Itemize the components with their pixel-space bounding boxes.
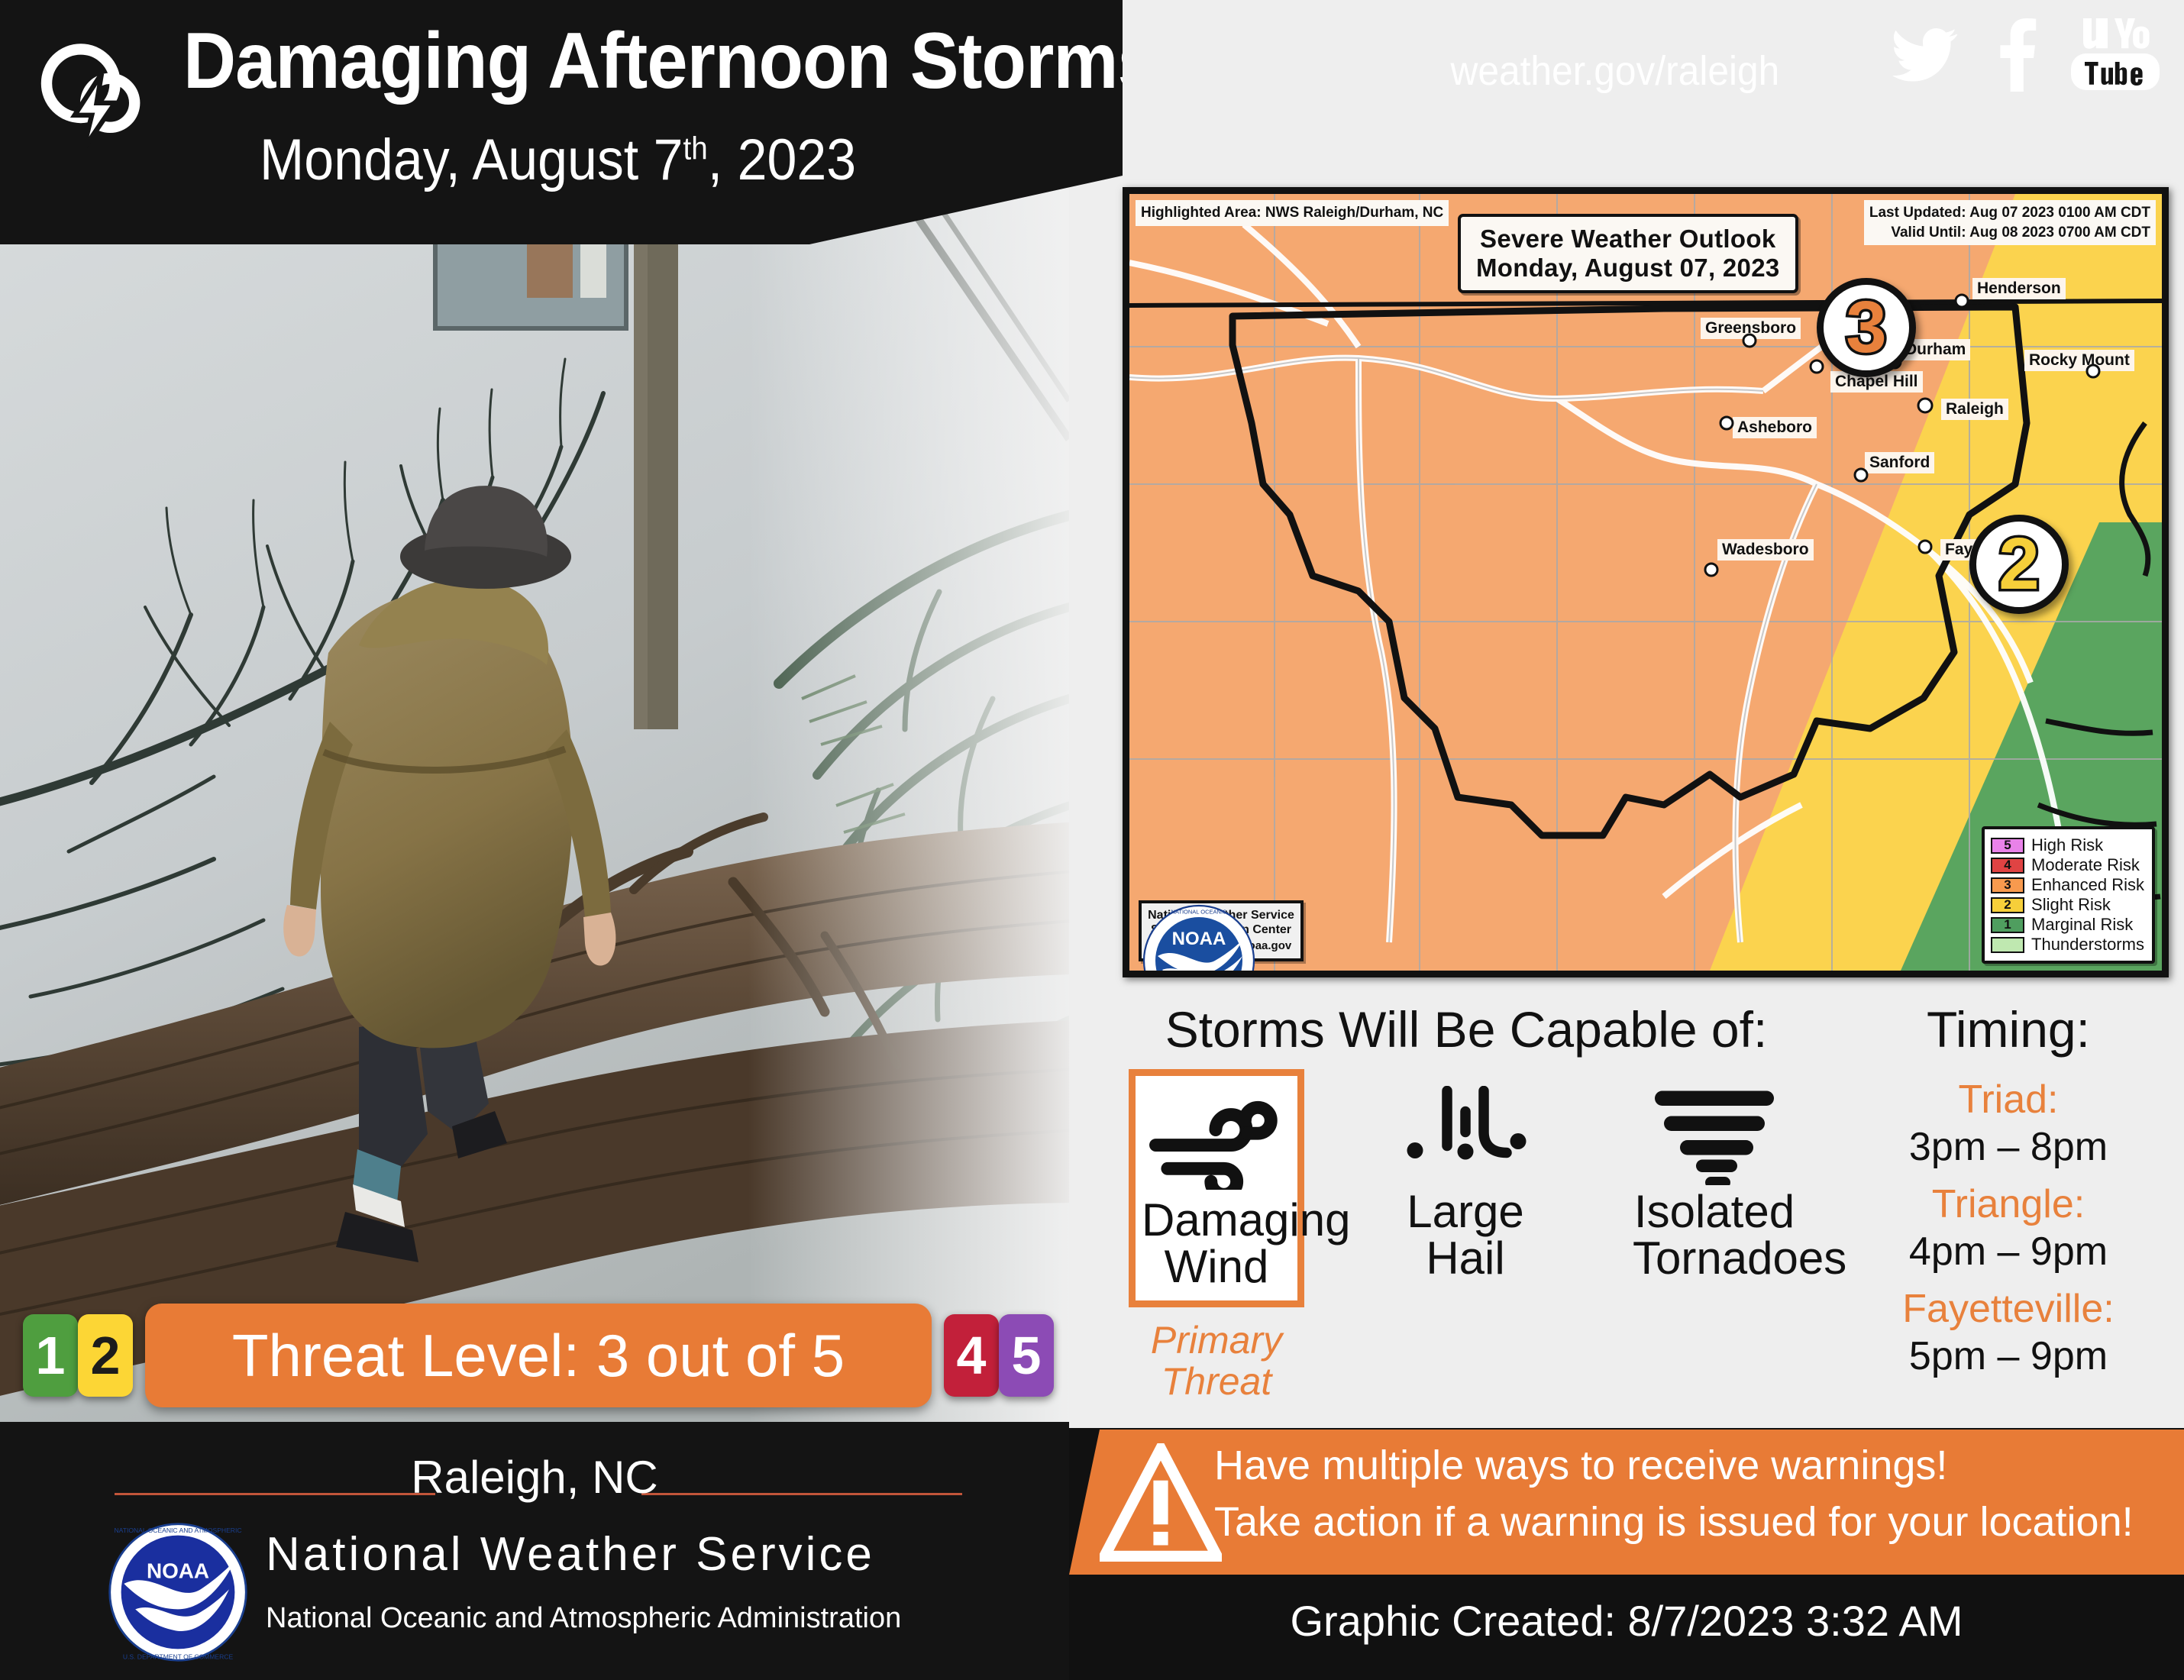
hazard-label-line2: Tornadoes — [1633, 1233, 1846, 1284]
threat-level-1: 1 — [23, 1314, 78, 1397]
footer-office: Raleigh, NC — [0, 1451, 1069, 1504]
map-title-box: Severe Weather Outlook Monday, August 07… — [1458, 214, 1798, 293]
legend-label-5: High Risk — [2031, 835, 2103, 855]
warning-line1: Have multiple ways to receive warnings! — [1214, 1442, 1947, 1489]
svg-text:NATIONAL OCEANIC AND ATMOSPHER: NATIONAL OCEANIC AND ATMOSPHERIC — [114, 1527, 241, 1534]
timing-time-fayetteville: 5pm – 9pm — [1848, 1333, 2169, 1381]
svg-text:U.S. DEPARTMENT OF COMMERCE: U.S. DEPARTMENT OF COMMERCE — [123, 1653, 234, 1660]
legend-row: 2 Slight Risk — [1991, 895, 2144, 915]
hazard-damaging-wind-box: Damaging Wind — [1129, 1069, 1304, 1307]
timing-time-triangle: 4pm – 9pm — [1848, 1228, 2169, 1276]
warning-triangle-icon — [1100, 1443, 1222, 1562]
footer-parent-agency: National Oceanic and Atmospheric Adminis… — [266, 1602, 901, 1635]
header-date-prefix: Monday, August 7 — [260, 128, 683, 192]
legend-label-2: Slight Risk — [2031, 895, 2111, 915]
hazard-label-line1: Damaging — [1142, 1194, 1351, 1245]
social-links — [1883, 18, 2163, 92]
svg-text:NATIONAL OCEANIC: NATIONAL OCEANIC — [1171, 908, 1228, 915]
map-canvas: Highlighted Area: NWS Raleigh/Durham, NC… — [1129, 194, 2162, 971]
threat-level-current: Threat Level: 3 out of 5 — [145, 1304, 932, 1407]
legend-swatch-thunderstorms — [1991, 937, 2024, 953]
timing-title: Timing: — [1848, 1000, 2169, 1058]
legend-swatch-1: 1 — [1991, 917, 2024, 933]
hazard-large-hail-box: Large Hail — [1378, 1069, 1553, 1289]
legend-swatch-5: 5 — [1991, 838, 2024, 854]
hazard-label-line2: Wind — [1165, 1241, 1269, 1292]
hazard-isolated-tornadoes: Isolated Tornadoes — [1590, 1069, 1839, 1289]
svg-text:NOAA: NOAA — [147, 1559, 209, 1582]
noaa-logo-icon: NOAA NATIONAL OCEANIC U.S. DEPT OF COMME… — [1142, 903, 1256, 971]
threat-level-bar: 1 2 Threat Level: 3 out of 5 4 5 — [23, 1298, 1054, 1413]
timing-city-triangle: Triangle: — [1848, 1181, 2169, 1228]
legend-swatch-4: 4 — [1991, 858, 2024, 874]
spc-credit-box: NOAA NATIONAL OCEANIC U.S. DEPT OF COMME… — [1139, 900, 1304, 961]
city-label-henderson: Henderson — [1972, 278, 2066, 299]
map-legend: 5 High Risk 4 Moderate Risk 3 Enhanced R… — [1982, 826, 2155, 964]
city-label-raleigh: Raleigh — [1941, 399, 2008, 420]
facebook-icon[interactable] — [1992, 18, 2042, 92]
header-right-group: weather.gov/raleigh — [1115, 0, 2184, 145]
hazard-damaging-wind: Damaging Wind Primary Threat — [1092, 1069, 1341, 1402]
hazard-large-hail-label: Large Hail — [1384, 1188, 1547, 1281]
threat-level-4: 4 — [944, 1314, 999, 1397]
legend-row: 5 High Risk — [1991, 835, 2144, 855]
header-bar: Damaging Afternoon Storms Monday, August… — [0, 0, 1123, 244]
map-title-line1: Severe Weather Outlook — [1476, 225, 1780, 254]
warning-line2: Take action if a warning is issued for y… — [1214, 1498, 2134, 1546]
primary-threat-line1: Primary — [1151, 1319, 1282, 1362]
threat-level-5: 5 — [999, 1314, 1054, 1397]
map-highlighted-area-tag: Highlighted Area: NWS Raleigh/Durham, NC — [1136, 200, 1449, 226]
page-title: Damaging Afternoon Storms — [183, 21, 1158, 101]
legend-label-1: Marginal Risk — [2031, 915, 2133, 935]
infographic-root: Damaging Afternoon Storms Monday, August… — [0, 0, 2184, 1680]
hail-icon — [1384, 1086, 1547, 1185]
timing-city-triad: Triad: — [1848, 1077, 2169, 1123]
hazard-label-line1: Isolated — [1634, 1186, 1795, 1237]
legend-swatch-3: 3 — [1991, 877, 2024, 893]
city-label-greensboro: Greensboro — [1701, 318, 1801, 339]
legend-row: 1 Marginal Risk — [1991, 915, 2144, 935]
city-label-asheboro: Asheboro — [1733, 417, 1817, 438]
photo-illustration — [0, 118, 1069, 1424]
tornado-icon — [1633, 1086, 1796, 1185]
header-date-ordinal: th — [683, 131, 708, 166]
hazard-damaging-wind-label: Damaging Wind — [1142, 1197, 1291, 1290]
severe-weather-outlook-map[interactable]: Highlighted Area: NWS Raleigh/Durham, NC… — [1123, 187, 2169, 977]
svg-text:NOAA: NOAA — [1172, 929, 1226, 949]
hazard-label-line2: Hail — [1426, 1233, 1504, 1284]
hazard-large-hail: Large Hail — [1341, 1069, 1590, 1289]
risk-marker-3: 3 — [1817, 278, 1916, 377]
primary-threat-line2: Threat — [1161, 1360, 1272, 1403]
hazards-title: Storms Will Be Capable of: — [1130, 1000, 1802, 1058]
hazard-label-line1: Large — [1407, 1186, 1523, 1237]
website-link[interactable]: weather.gov/raleigh — [1450, 47, 1779, 95]
legend-row: Thunderstorms — [1991, 935, 2144, 955]
header-date-year: , 2023 — [708, 128, 856, 192]
legend-label-thunderstorms: Thunderstorms — [2031, 935, 2144, 955]
city-label-sanford: Sanford — [1865, 452, 1934, 473]
timing-city-fayetteville: Fayetteville: — [1848, 1286, 2169, 1333]
city-label-rocky-mount: Rocky Mount — [2024, 350, 2134, 371]
hazards-row: Damaging Wind Primary Threat — [1092, 1069, 1840, 1405]
legend-label-4: Moderate Risk — [2031, 855, 2140, 875]
noaa-logo-icon: NOAA NATIONAL OCEANIC AND ATMOSPHERIC U.… — [107, 1521, 249, 1663]
map-last-updated: Last Updated: Aug 07 2023 0100 AM CDT — [1869, 203, 2150, 223]
twitter-icon[interactable] — [1883, 20, 1966, 90]
hazard-isolated-tornadoes-box: Isolated Tornadoes — [1627, 1069, 1802, 1289]
footer-agency: National Weather Service — [266, 1527, 875, 1581]
wind-icon — [1142, 1094, 1291, 1194]
legend-label-3: Enhanced Risk — [2031, 875, 2144, 895]
cloud-lightning-icon — [31, 32, 160, 154]
youtube-icon[interactable] — [2068, 18, 2163, 92]
storm-damage-photo — [0, 118, 1069, 1424]
primary-threat-note: Primary Threat — [1092, 1320, 1341, 1402]
timing-section: Timing: Triad: 3pm – 8pm Triangle: 4pm –… — [1848, 1000, 2169, 1390]
city-label-wadesboro: Wadesboro — [1717, 539, 1814, 561]
hazard-isolated-tornadoes-label: Isolated Tornadoes — [1633, 1188, 1796, 1281]
legend-row: 3 Enhanced Risk — [1991, 875, 2144, 895]
legend-row: 4 Moderate Risk — [1991, 855, 2144, 875]
map-valid-until: Valid Until: Aug 08 2023 0700 AM CDT — [1869, 223, 2150, 243]
map-validity-tag: Last Updated: Aug 07 2023 0100 AM CDT Va… — [1864, 200, 2156, 245]
graphic-created-timestamp: Graphic Created: 8/7/2023 3:32 AM — [1069, 1596, 2184, 1646]
legend-swatch-2: 2 — [1991, 897, 2024, 913]
header-date: Monday, August 7th, 2023 — [260, 131, 856, 189]
threat-level-2: 2 — [78, 1314, 133, 1397]
map-title-line2: Monday, August 07, 2023 — [1476, 254, 1780, 283]
risk-marker-2: 2 — [1969, 515, 2069, 614]
timing-time-triad: 3pm – 8pm — [1848, 1123, 2169, 1171]
